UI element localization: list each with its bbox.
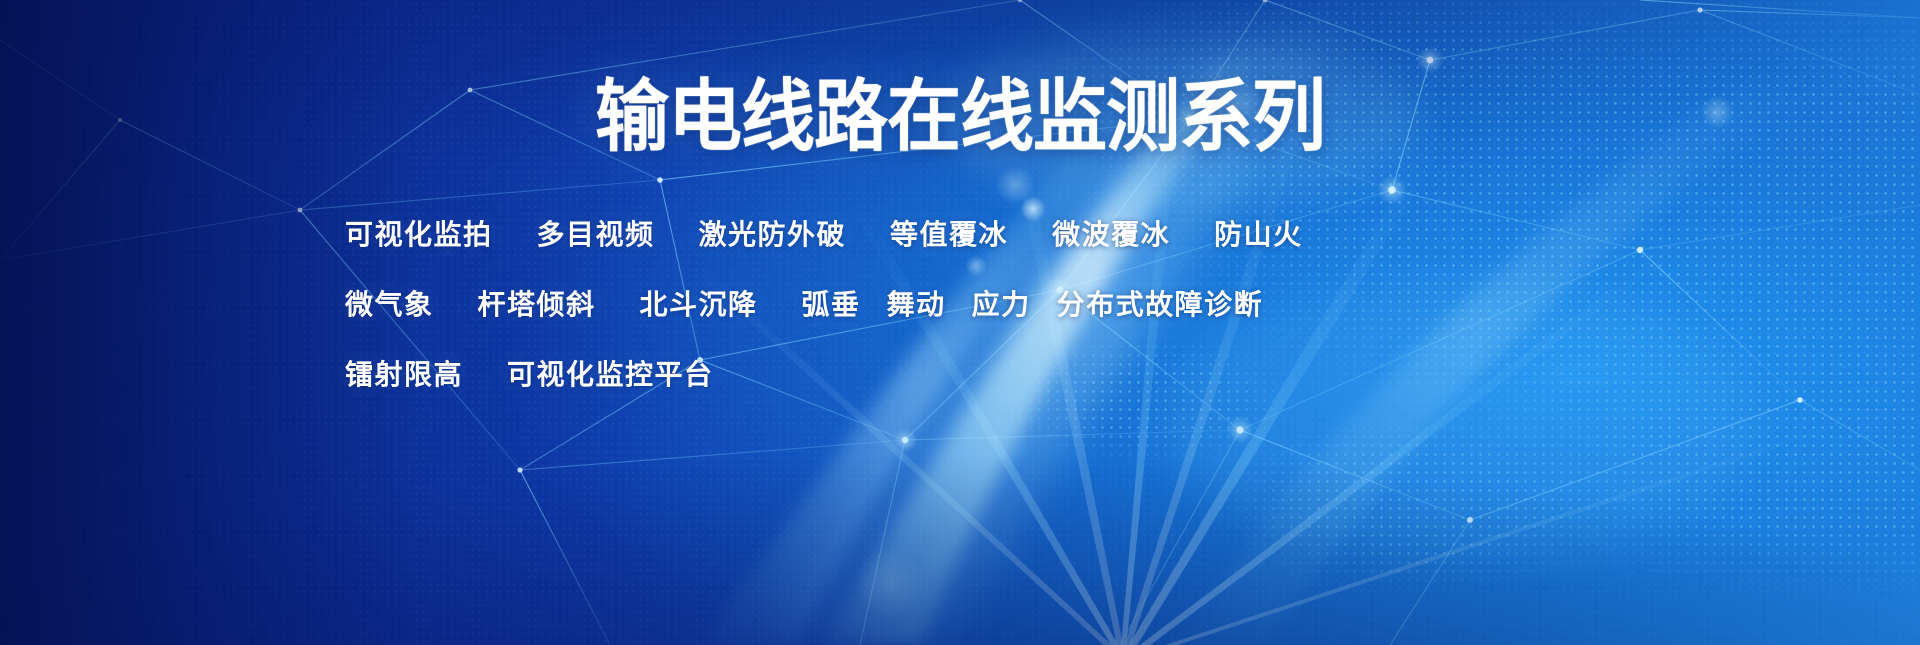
feature-tag-equivalent-icing[interactable]: 等值覆冰: [890, 221, 1008, 249]
feature-tag-visual-monitoring-platform[interactable]: 可视化监控平台: [507, 361, 714, 389]
feature-tag-stress[interactable]: 应力: [972, 291, 1031, 319]
feature-tag-wildfire-prevention[interactable]: 防山火: [1214, 221, 1303, 249]
feature-tag-row: 微气象 杆塔倾斜 北斗沉降 弧垂 舞动 应力 分布式故障诊断: [345, 270, 1545, 340]
feature-tag-list: 可视化监拍 多目视频 激光防外破 等值覆冰 微波覆冰 防山火 微气象 杆塔倾斜 …: [345, 200, 1545, 410]
feature-tag-laser-anti-breakage[interactable]: 激光防外破: [699, 221, 847, 249]
feature-tag-row: 镭射限高 可视化监控平台: [345, 340, 1545, 410]
feature-tag-beidou-settlement[interactable]: 北斗沉降: [640, 291, 758, 319]
page-title: 输电线路在线监测系列: [0, 78, 1920, 156]
feature-tag-laser-height-limit[interactable]: 镭射限高: [345, 361, 463, 389]
banner-content: 输电线路在线监测系列 可视化监拍 多目视频 激光防外破 等值覆冰 微波覆冰 防山…: [0, 0, 1920, 645]
feature-tag-tower-tilt[interactable]: 杆塔倾斜: [478, 291, 596, 319]
banner-hero: 输电线路在线监测系列 可视化监拍 多目视频 激光防外破 等值覆冰 微波覆冰 防山…: [0, 0, 1920, 645]
feature-tag-row: 可视化监拍 多目视频 激光防外破 等值覆冰 微波覆冰 防山火: [345, 200, 1545, 270]
feature-tag-visual-monitoring[interactable]: 可视化监拍: [345, 221, 493, 249]
feature-tag-microwave-icing[interactable]: 微波覆冰: [1052, 221, 1170, 249]
feature-tag-multi-lens-video[interactable]: 多目视频: [537, 221, 655, 249]
feature-tag-galloping[interactable]: 舞动: [887, 291, 946, 319]
feature-tag-micro-meteorology[interactable]: 微气象: [345, 291, 434, 319]
feature-tag-sag[interactable]: 弧垂: [802, 291, 861, 319]
feature-tag-distributed-fault-diagnosis[interactable]: 分布式故障诊断: [1057, 291, 1264, 319]
